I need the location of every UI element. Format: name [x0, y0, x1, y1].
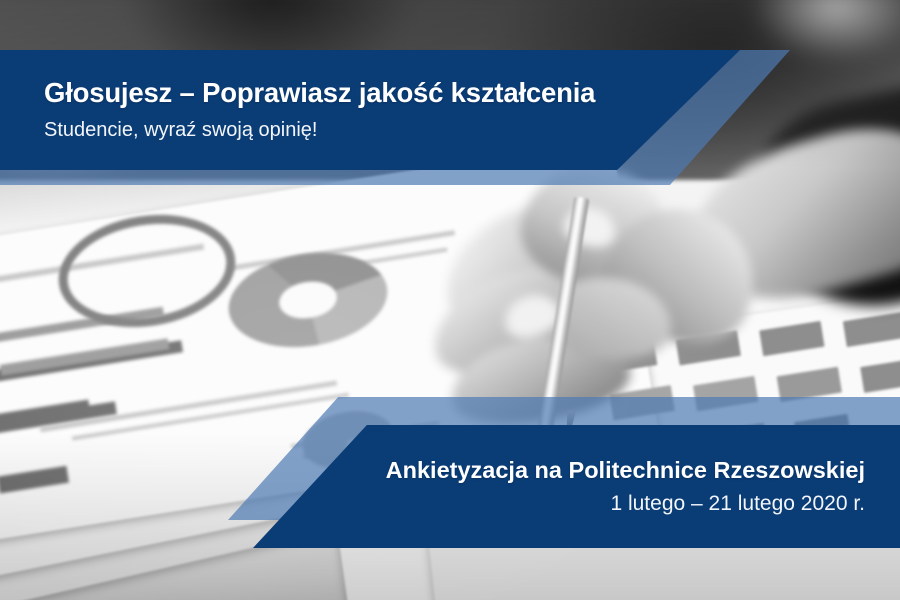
poster: Głosujesz – Poprawiasz jakość kształceni…: [0, 0, 900, 600]
event-date-range: 1 lutego – 21 lutego 2020 r.: [610, 492, 865, 516]
bottom-banner-text: Ankietyzacja na Politechnice Rzeszowskie…: [300, 425, 865, 548]
event-title: Ankietyzacja na Politechnice Rzeszowskie…: [386, 457, 865, 483]
top-banner-text: Głosujesz – Poprawiasz jakość kształceni…: [0, 50, 640, 170]
poster-headline: Głosujesz – Poprawiasz jakość kształceni…: [44, 78, 640, 108]
poster-subheadline: Studencie, wyraź swoją opinię!: [44, 119, 640, 142]
